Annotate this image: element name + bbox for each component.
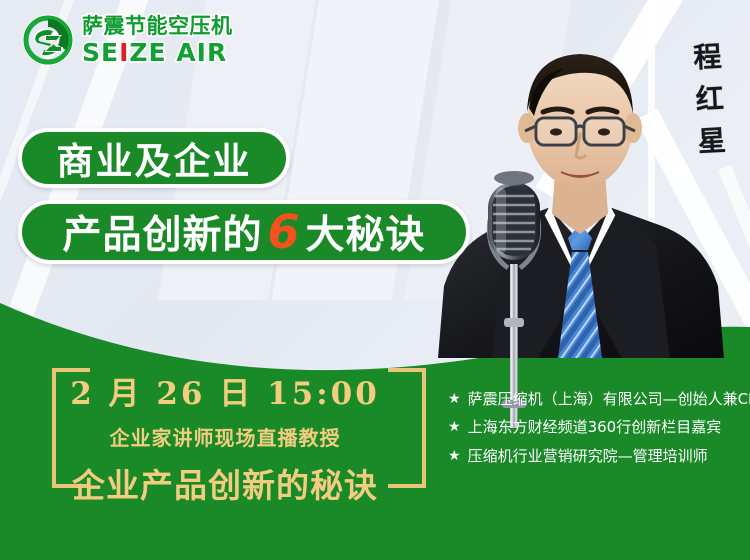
headline-line-2-after: 大秘诀 [306,204,426,260]
headline-line-1: 商业及企业 [57,131,252,185]
speaker-portrait [430,28,730,358]
brand-name-en-b: ZE AIR [129,38,227,67]
list-item: ★ 上海东方财经频道360行创新栏目嘉宾 [448,420,750,435]
promo-poster: 萨震节能空压机 SEIZE AIR 商业及企业 产品创新的6大秘诀 2 月 26… [0,0,750,560]
sz-circle-logo-icon [22,14,74,66]
event-subtitle: 企业家讲师现场直播教授 [60,422,390,451]
brand-logo-text: 萨震节能空压机 SEIZE AIR [82,16,233,65]
vintage-microphone [478,168,550,428]
event-date-time: 2 月 26 日 15:00 [60,368,390,413]
star-icon: ★ [448,420,461,435]
brand-name-en-a: SE [82,38,119,67]
event-info-block: 2 月 26 日 15:00 企业家讲师现场直播教授 企业产品创新的秘诀 [60,368,390,507]
headline-number: 6 [262,205,305,259]
credential-text: 压缩机行业营销研究院—管理培训师 [468,449,708,464]
speaker-signature: 程红星 [685,41,732,169]
bracket-right [388,368,426,488]
brand-name-en-red: I [119,38,129,67]
credential-text: 上海东方财经频道360行创新栏目嘉宾 [468,420,722,435]
brand-name-cn: 萨震节能空压机 [82,16,233,37]
brand-name-en: SEIZE AIR [82,40,233,65]
headline-pill-2: 产品创新的6大秘诀 [18,200,470,264]
brand-logo[interactable]: 萨震节能空压机 SEIZE AIR [22,14,233,66]
list-item: ★ 压缩机行业营销研究院—管理培训师 [448,449,750,464]
star-icon: ★ [448,392,461,407]
speaker-credentials-list: ★ 萨震压缩机（上海）有限公司—创始人兼CEO ★ 上海东方财经频道360行创新… [448,392,750,477]
credential-text: 萨震压缩机（上海）有限公司—创始人兼CEO [468,392,750,407]
star-icon: ★ [448,449,461,464]
headline-line-2-before: 产品创新的 [62,204,262,260]
list-item: ★ 萨震压缩机（上海）有限公司—创始人兼CEO [448,392,750,407]
headline-pill-1: 商业及企业 [18,128,290,188]
event-topic: 企业产品创新的秘诀 [60,459,390,507]
